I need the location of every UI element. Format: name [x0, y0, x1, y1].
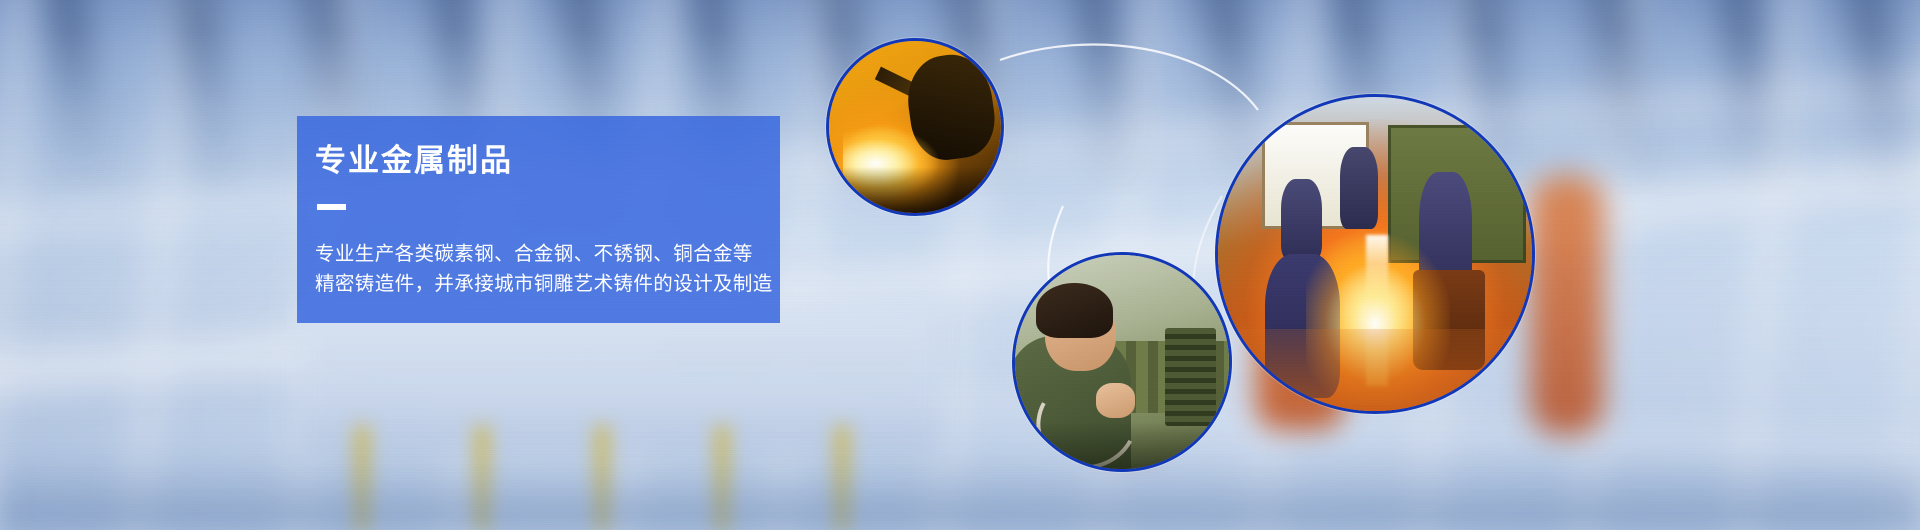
welding-photo	[826, 38, 1004, 216]
text-panel: 专业金属制品 专业生产各类碳素钢、合金钢、不锈钢、铜合金等 精密铸造件，并承接城…	[297, 116, 780, 323]
foundry-photo	[1215, 94, 1535, 414]
title-divider	[317, 204, 346, 210]
foundry-floor	[1218, 329, 1532, 411]
assembly-shadow	[1015, 422, 1229, 469]
hero-banner: 专业金属制品 专业生产各类碳素钢、合金钢、不锈钢、铜合金等 精密铸造件，并承接城…	[0, 0, 1920, 530]
welding-photo-scene	[829, 41, 1001, 213]
assembly-photo	[1012, 252, 1232, 472]
assembly-worker-hair	[1036, 283, 1113, 339]
panel-description: 专业生产各类碳素钢、合金钢、不锈钢、铜合金等 精密铸造件，并承接城市铜雕艺术铸件…	[315, 240, 780, 299]
description-line-1: 专业生产各类碳素钢、合金钢、不锈钢、铜合金等	[315, 240, 780, 270]
foundry-worker-3	[1340, 147, 1378, 229]
welding-shadow	[829, 167, 1001, 213]
page-title: 专业金属制品	[315, 144, 780, 178]
assembly-parts-rack	[1165, 328, 1216, 426]
assembly-photo-scene	[1015, 255, 1229, 469]
description-line-2: 精密铸造件，并承接城市铜雕艺术铸件的设计及制造	[315, 270, 780, 300]
foundry-photo-scene	[1218, 97, 1532, 411]
